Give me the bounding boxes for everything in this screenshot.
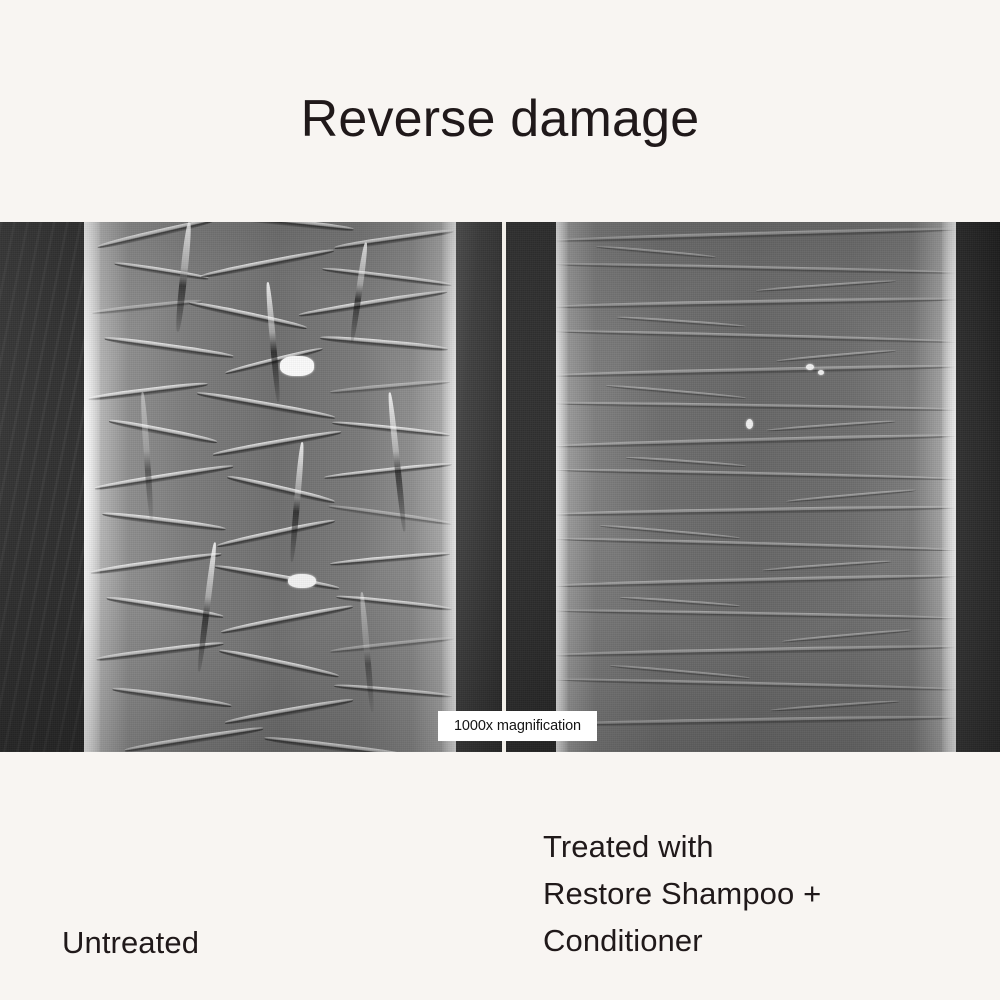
caption-treated-line-2: Restore Shampoo + bbox=[543, 870, 821, 917]
caption-treated: Treated with Restore Shampoo + Condition… bbox=[543, 823, 821, 964]
caption-treated-line-1: Treated with bbox=[543, 823, 821, 870]
magnification-badge-label: 1000x magnification bbox=[454, 718, 581, 734]
panel-background-left bbox=[506, 222, 558, 752]
fiber-surface bbox=[556, 222, 956, 752]
caption-untreated-line-1: Untreated bbox=[62, 919, 199, 966]
panel-background-right bbox=[452, 222, 502, 752]
magnification-badge: 1000x magnification bbox=[438, 711, 597, 741]
panel-background-left bbox=[0, 222, 90, 752]
hair-fiber-treated bbox=[556, 222, 956, 752]
hair-fiber-untreated bbox=[84, 222, 456, 752]
panel-divider bbox=[502, 222, 506, 752]
page-title: Reverse damage bbox=[301, 77, 700, 145]
product-comparison-page: Reverse damage bbox=[0, 0, 1000, 1000]
caption-untreated: Untreated bbox=[62, 919, 199, 966]
caption-treated-line-3: Conditioner bbox=[543, 917, 821, 964]
sem-comparison-strip: 1000x magnification bbox=[0, 222, 1000, 752]
sem-panel-untreated bbox=[0, 222, 502, 752]
title-area: Reverse damage bbox=[0, 0, 1000, 222]
panel-background-right bbox=[954, 222, 1000, 752]
sem-panel-treated bbox=[506, 222, 1000, 752]
fiber-surface bbox=[84, 222, 456, 752]
